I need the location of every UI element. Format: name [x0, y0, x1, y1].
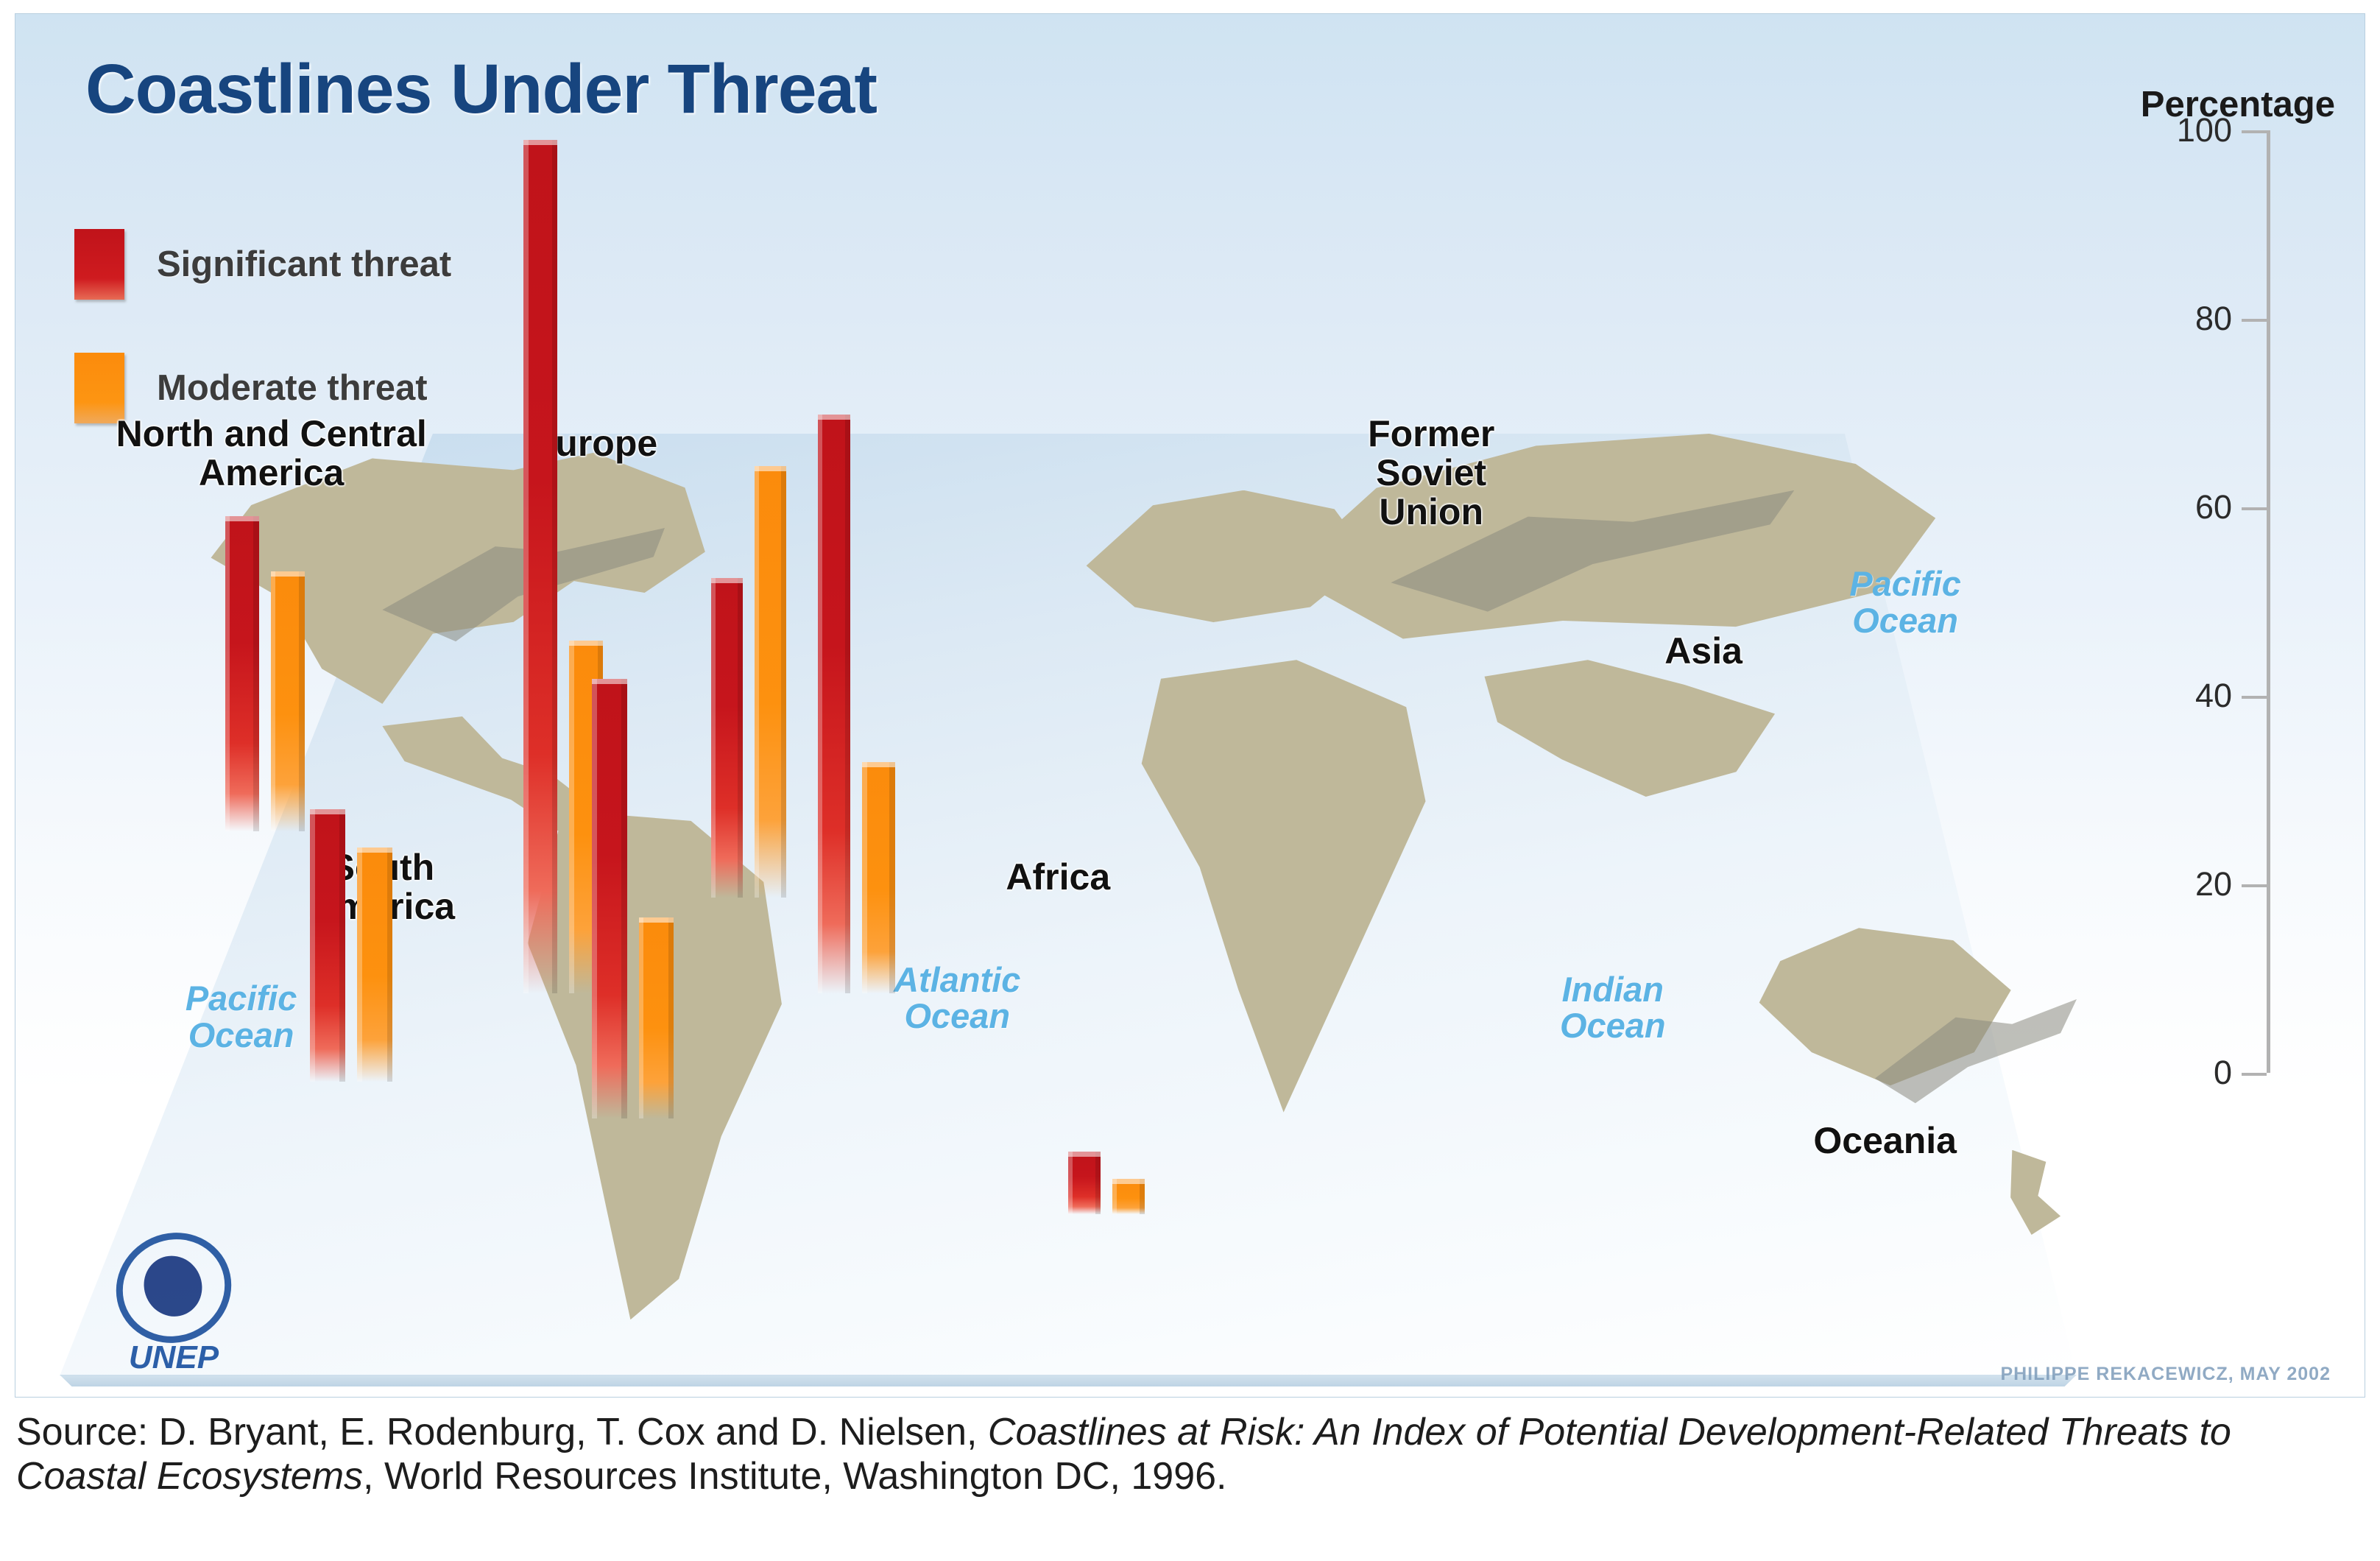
- ocean-label-line2: Ocean: [1774, 602, 2036, 638]
- percentage-axis: 100 80 60 40 20 0: [2267, 130, 2270, 1088]
- bar-north-and-central-america-significant: [225, 516, 259, 831]
- region-label-line1: Oceania: [1754, 1121, 2016, 1160]
- region-label-asia: Asia: [1603, 632, 1804, 671]
- coastlines-under-threat-figure: Coastlines Under Threat Significant thre…: [0, 0, 2380, 1561]
- region-label-line2: Soviet: [1310, 454, 1553, 493]
- axis-label-0: 0: [2214, 1054, 2232, 1092]
- ocean-label-line1: Indian: [1491, 971, 1734, 1007]
- source-prefix: Source: D. Bryant, E. Rodenburg, T. Cox …: [16, 1411, 988, 1453]
- axis-tick-0: [2242, 1073, 2267, 1076]
- axis-label-40: 40: [2195, 677, 2232, 715]
- legend-label-significant: Significant threat: [157, 244, 451, 285]
- bar-south-america-significant: [310, 809, 345, 1082]
- chart-panel: Coastlines Under Threat Significant thre…: [15, 13, 2365, 1398]
- bar-africa-significant: [592, 679, 626, 1118]
- axis-spine: [2267, 130, 2270, 1073]
- axis-tick-100: [2242, 130, 2267, 133]
- source-caption: Source: D. Bryant, E. Rodenburg, T. Cox …: [16, 1410, 2357, 1499]
- page-title: Coastlines Under Threat: [85, 49, 877, 130]
- unep-logo-text: UNEP: [96, 1339, 251, 1376]
- region-label-line1: Europe: [473, 424, 716, 463]
- axis-tick-20: [2242, 884, 2267, 887]
- region-label-oceania: Oceania: [1754, 1121, 2016, 1160]
- ocean-label-line1: Pacific: [1774, 565, 2036, 602]
- source-suffix: , World Resources Institute, Washington …: [363, 1455, 1226, 1498]
- ocean-label-indian: Indian Ocean: [1491, 971, 1734, 1044]
- bar-north-and-central-america-moderate: [271, 571, 305, 831]
- region-label-north-and-central-america: North and Central America: [70, 415, 473, 493]
- axis-label-100: 100: [2177, 111, 2232, 149]
- region-label-europe: Europe: [473, 424, 716, 463]
- ocean-label-pacific-east: Pacific Ocean: [1774, 565, 2036, 638]
- axis-tick-80: [2242, 319, 2267, 322]
- region-label-line3: Union: [1310, 493, 1553, 532]
- axis-label-20: 20: [2195, 865, 2232, 903]
- legend-swatch-significant: [74, 229, 124, 300]
- region-label-former-soviet-union: Former Soviet Union: [1310, 415, 1553, 532]
- ocean-label-line2: Ocean: [1491, 1007, 1734, 1043]
- legend-label-moderate: Moderate threat: [157, 367, 428, 409]
- bar-asia-moderate: [862, 762, 894, 993]
- axis-label-80: 80: [2195, 300, 2232, 338]
- axis-label-60: 60: [2195, 488, 2232, 526]
- axis-tick-60: [2242, 507, 2267, 510]
- region-label-line1: Asia: [1603, 632, 1804, 671]
- world-map-plane: Pacific Ocean Atlantic Ocean Indian Ocea…: [60, 434, 2077, 1376]
- unep-logo: UNEP: [96, 1233, 251, 1376]
- bar-former-soviet-union-significant: [711, 578, 743, 898]
- bar-south-america-moderate: [357, 848, 392, 1082]
- map-slab-edge: [60, 1375, 2077, 1386]
- region-label-line1: Africa: [937, 858, 1179, 897]
- region-label-line2: America: [70, 454, 473, 493]
- legend-item-significant: Significant threat: [74, 229, 451, 300]
- bar-former-soviet-union-moderate: [755, 466, 786, 898]
- bar-oceania-significant: [1068, 1152, 1101, 1214]
- region-label-africa: Africa: [937, 858, 1179, 897]
- ocean-label-line2: Ocean: [826, 998, 1088, 1034]
- bar-oceania-moderate: [1112, 1179, 1145, 1214]
- region-label-line1: North and Central: [70, 415, 473, 454]
- axis-title-percentage: Percentage: [2141, 84, 2335, 125]
- bar-asia-significant: [818, 415, 850, 993]
- bar-africa-moderate: [639, 917, 674, 1118]
- axis-tick-40: [2242, 696, 2267, 699]
- author-credit: PHILIPPE REKACEWICZ, MAY 2002: [2000, 1364, 2331, 1385]
- bar-europe-significant: [523, 140, 557, 993]
- region-label-line1: Former: [1310, 415, 1553, 454]
